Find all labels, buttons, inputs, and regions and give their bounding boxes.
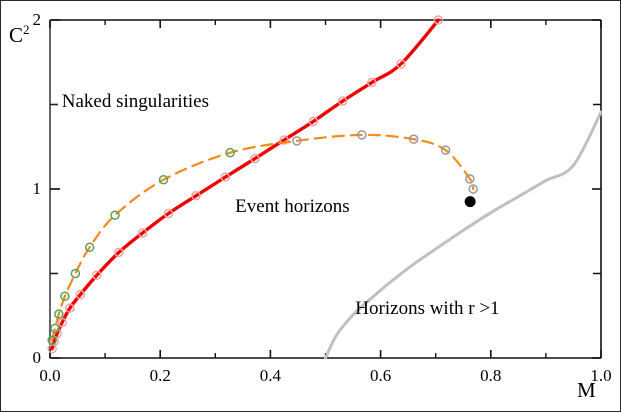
annotation-event-horizons: Event horizons <box>235 197 350 216</box>
x-tick-label-2: 0.4 <box>260 367 281 384</box>
x-tick-label-0: 0.0 <box>39 367 60 384</box>
series-line-r-equals-1-boundary-grey <box>326 112 602 358</box>
y-tick-label-0: 0 <box>33 349 42 366</box>
annotation-naked-singularities: Naked singularities <box>62 92 209 111</box>
point-critical-endpoint <box>465 196 476 207</box>
y-tick-label-2: 2 <box>33 11 42 28</box>
x-tick-label-1: 0.2 <box>150 367 171 384</box>
y-axis-label-base: C <box>9 23 23 47</box>
y-axis-label: C2 <box>9 23 30 46</box>
annotation-horizons-with-r-gt-1: Horizons with r >1 <box>355 299 499 318</box>
special-points-group <box>465 196 476 207</box>
figure-container: C2 M 0.00.20.40.60.81.0012 Naked singula… <box>0 0 621 412</box>
x-tick-label-3: 0.6 <box>370 367 391 384</box>
x-tick-label-5: 1.0 <box>590 367 611 384</box>
marker-critical-curve-orange-dashed-6 <box>111 211 119 219</box>
y-axis-label-exponent: 2 <box>23 22 30 37</box>
data-series-group <box>48 16 601 358</box>
x-tick-label-4: 0.8 <box>480 367 501 384</box>
axes-group <box>50 20 601 358</box>
y-tick-label-1: 1 <box>33 180 42 197</box>
